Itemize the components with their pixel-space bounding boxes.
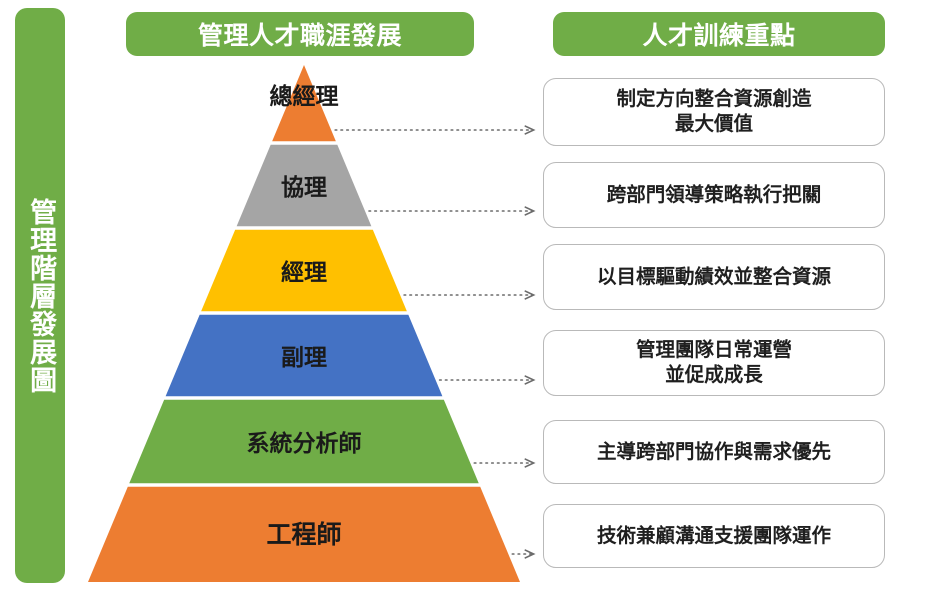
diagram-canvas: 管理階層發展圖 管理人才職涯發展 人才訓練重點 總經理協理經理副理系統分析師工程… (0, 0, 925, 600)
training-focus-box-1[interactable]: 制定方向整合資源創造最大價值 (543, 78, 885, 146)
training-focus-text-4: 管理團隊日常運營並促成成長 (636, 338, 792, 388)
training-focus-text-3: 以目標驅動績效並整合資源 (597, 265, 831, 290)
training-focus-box-4[interactable]: 管理團隊日常運營並促成成長 (543, 330, 885, 396)
training-focus-box-3[interactable]: 以目標驅動績效並整合資源 (543, 244, 885, 310)
training-focus-text-1: 制定方向整合資源創造最大價值 (616, 87, 811, 137)
training-focus-box-6[interactable]: 技術兼顧溝通支援團隊運作 (543, 504, 885, 568)
training-focus-text-6: 技術兼顧溝通支援團隊運作 (597, 524, 831, 549)
training-focus-box-2[interactable]: 跨部門領導策略執行把關 (543, 162, 885, 228)
training-focus-box-5[interactable]: 主導跨部門協作與需求優先 (543, 420, 885, 484)
training-focus-text-5: 主導跨部門協作與需求優先 (597, 440, 831, 465)
training-focus-text-2: 跨部門領導策略執行把關 (607, 183, 822, 208)
